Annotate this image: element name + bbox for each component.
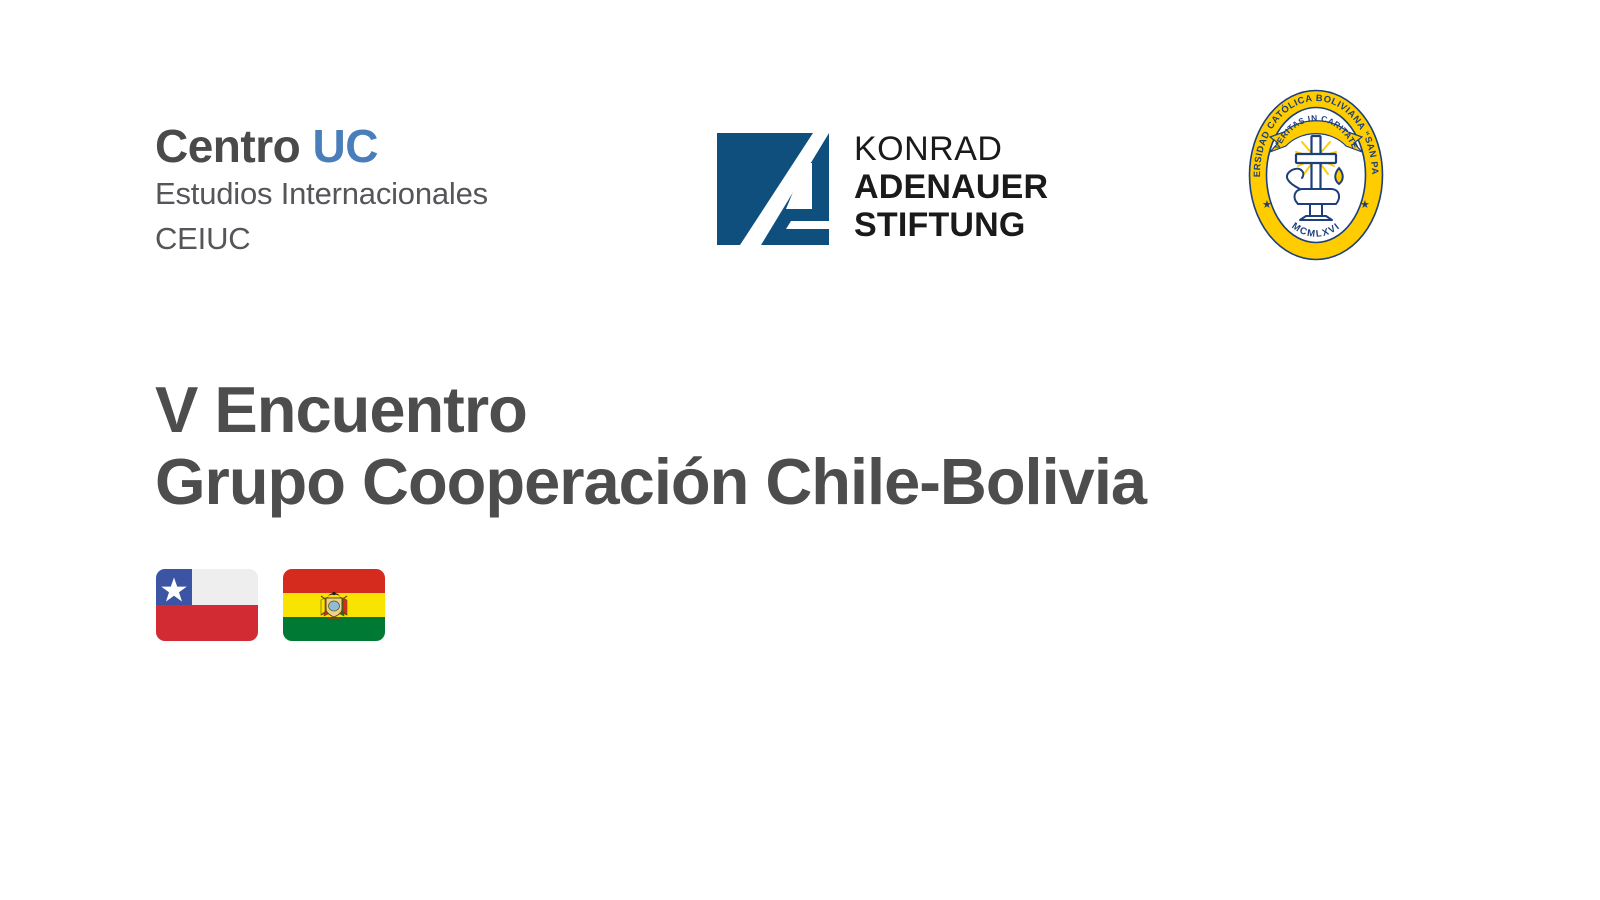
konrad-adenauer-stiftung-logo: KONRAD ADENAUER STIFTUNG [717,133,1048,245]
ceiuc-word-centro: Centro [155,120,300,172]
title-line-1: V Encuentro [155,374,1146,446]
flag-row [156,569,385,641]
page-title: V Encuentro Grupo Cooperación Chile-Boli… [155,374,1146,517]
bolivia-flag-icon [283,569,385,641]
kas-a-mark-icon [717,133,829,245]
ucb-star-left-icon: ★ [1262,199,1272,211]
ceiuc-word-uc: UC [313,120,378,172]
universidad-catolica-boliviana-seal: UNIVERSIDAD CATÓLICA BOLIVIANA “SAN PABL… [1240,80,1392,270]
ucb-star-right-icon: ★ [1360,199,1370,211]
kas-line-konrad: KONRAD [854,130,1048,168]
ceiuc-logo: Centro UC Estudios Internacionales CEIUC [155,122,488,259]
ceiuc-wordmark: Centro UC [155,122,488,170]
kas-line-stiftung: STIFTUNG [854,206,1048,244]
slide-canvas: Centro UC Estudios Internacionales CEIUC… [0,0,1600,900]
ceiuc-subtitle-line-1: Estudios Internacionales [155,174,488,214]
chile-flag-icon [156,569,258,641]
kas-line-adenauer: ADENAUER [854,168,1048,206]
ceiuc-subtitle-line-2: CEIUC [155,219,488,259]
kas-wordmark: KONRAD ADENAUER STIFTUNG [854,130,1048,244]
title-line-2: Grupo Cooperación Chile-Bolivia [155,446,1146,518]
